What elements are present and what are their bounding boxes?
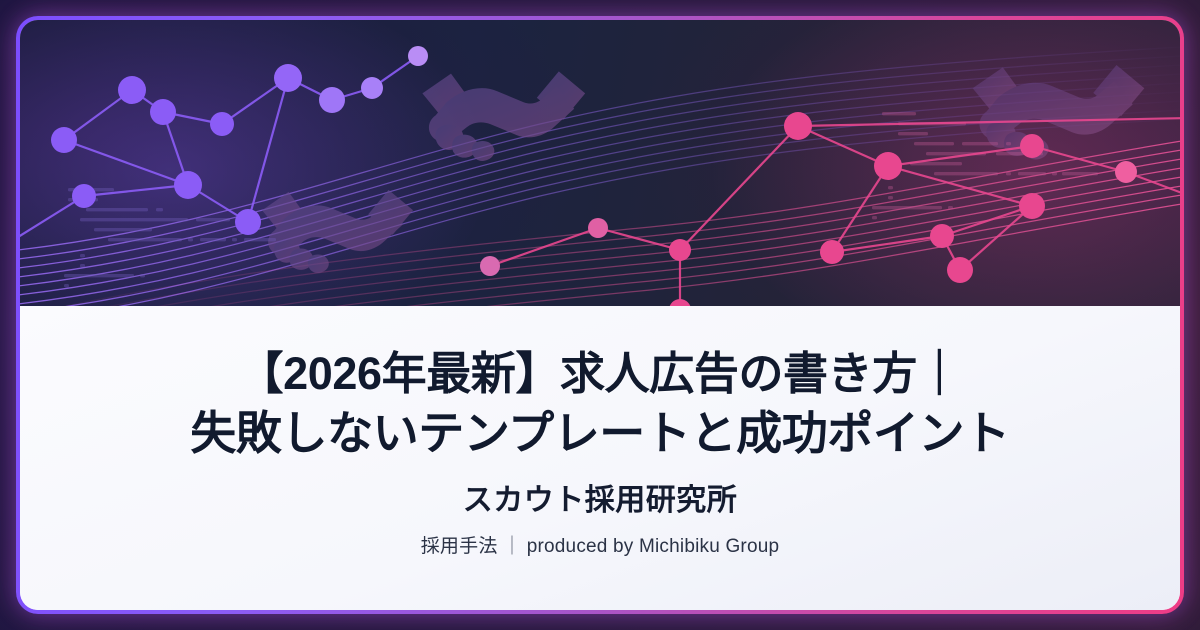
hero-illustration — [20, 20, 1180, 306]
og-card-canvas: 【2026年最新】求人広告の書き方｜ 失敗しないテンプレートと成功ポイント スカ… — [0, 0, 1200, 630]
site-name: スカウト採用研究所 — [463, 483, 738, 519]
handshake-silhouette-center — [422, 71, 585, 161]
byline-producer: produced by Michibiku Group — [527, 536, 780, 557]
hero-graphic — [20, 20, 1180, 306]
byline: 採用手法｜produced by Michibiku Group — [421, 536, 780, 559]
byline-separator: ｜ — [498, 536, 527, 557]
byline-category: 採用手法 — [421, 536, 498, 557]
title-line-1: 【2026年最新】求人広告の書き方｜ — [190, 345, 1009, 404]
card-text-body: 【2026年最新】求人広告の書き方｜ 失敗しないテンプレートと成功ポイント スカ… — [20, 306, 1180, 610]
gradient-border-frame: 【2026年最新】求人広告の書き方｜ 失敗しないテンプレートと成功ポイント スカ… — [16, 16, 1184, 614]
page-title: 【2026年最新】求人広告の書き方｜ 失敗しないテンプレートと成功ポイント — [190, 345, 1009, 463]
title-line-2: 失敗しないテンプレートと成功ポイント — [190, 404, 1009, 464]
card-inner: 【2026年最新】求人広告の書き方｜ 失敗しないテンプレートと成功ポイント スカ… — [20, 20, 1180, 610]
